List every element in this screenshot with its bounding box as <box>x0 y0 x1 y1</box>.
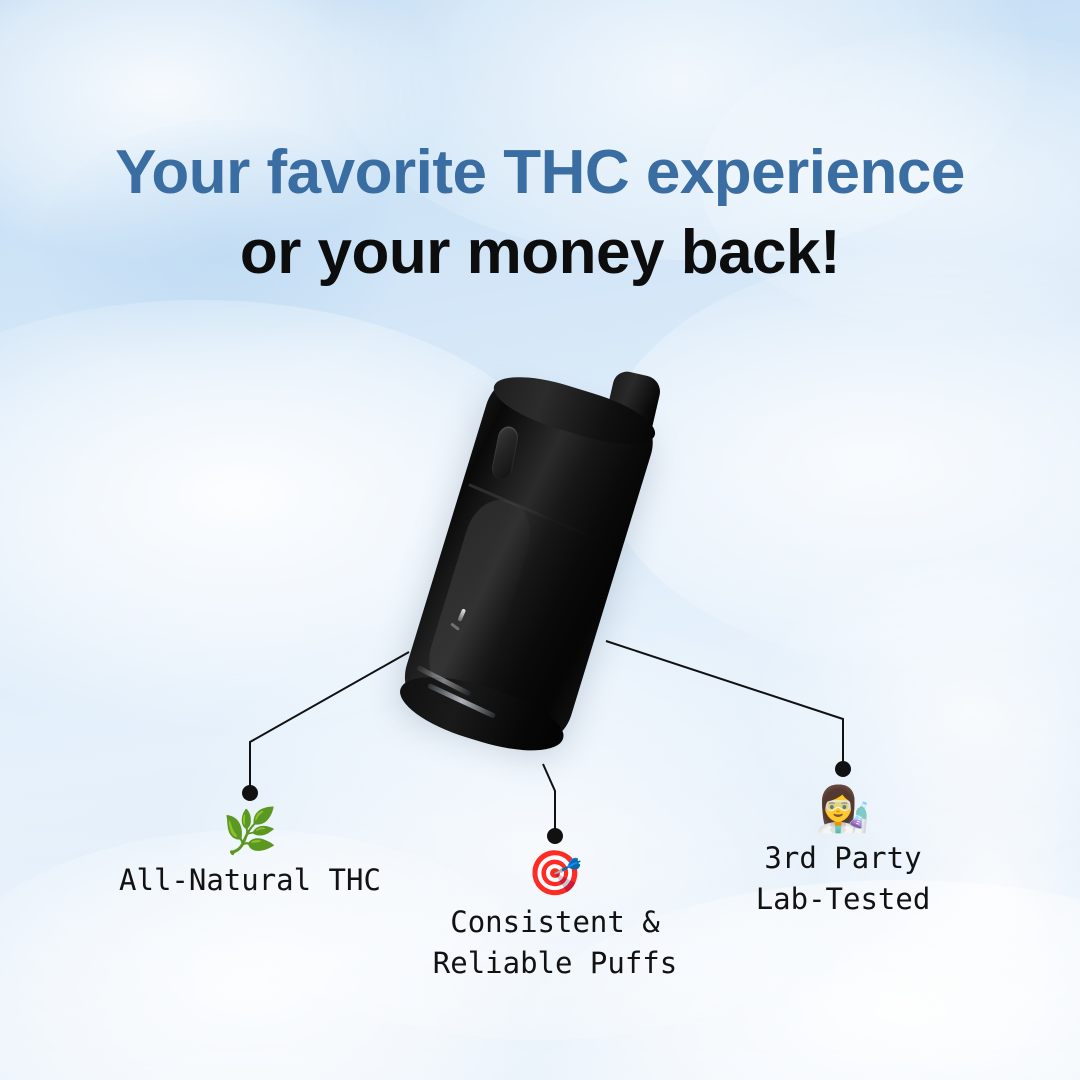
feature-label-line: Lab-Tested <box>723 879 963 920</box>
headline-line-2: or your money back! <box>0 222 1080 284</box>
product-image <box>392 352 692 772</box>
feature-lab-tested: 👩‍🔬 3rd Party Lab-Tested <box>723 788 963 920</box>
woman-scientist-icon: 👩‍🔬 <box>723 788 963 832</box>
headline-line-1: Your favorite THC experience <box>0 142 1080 204</box>
dart-target-icon: 🎯 <box>415 852 695 896</box>
vape-device <box>395 359 665 754</box>
feature-consistent-reliable: 🎯 Consistent & Reliable Puffs <box>415 852 695 984</box>
feature-label-line: All-Natural THC <box>118 860 382 901</box>
feature-label-line: Consistent & <box>415 902 695 943</box>
feature-label-line: Reliable Puffs <box>415 943 695 984</box>
headline: Your favorite THC experience or your mon… <box>0 142 1080 284</box>
promo-canvas: Your favorite THC experience or your mon… <box>0 0 1080 1080</box>
herb-leaf-icon: 🌿 <box>118 810 382 854</box>
feature-all-natural: 🌿 All-Natural THC <box>118 810 382 901</box>
feature-label-line: 3rd Party <box>723 838 963 879</box>
